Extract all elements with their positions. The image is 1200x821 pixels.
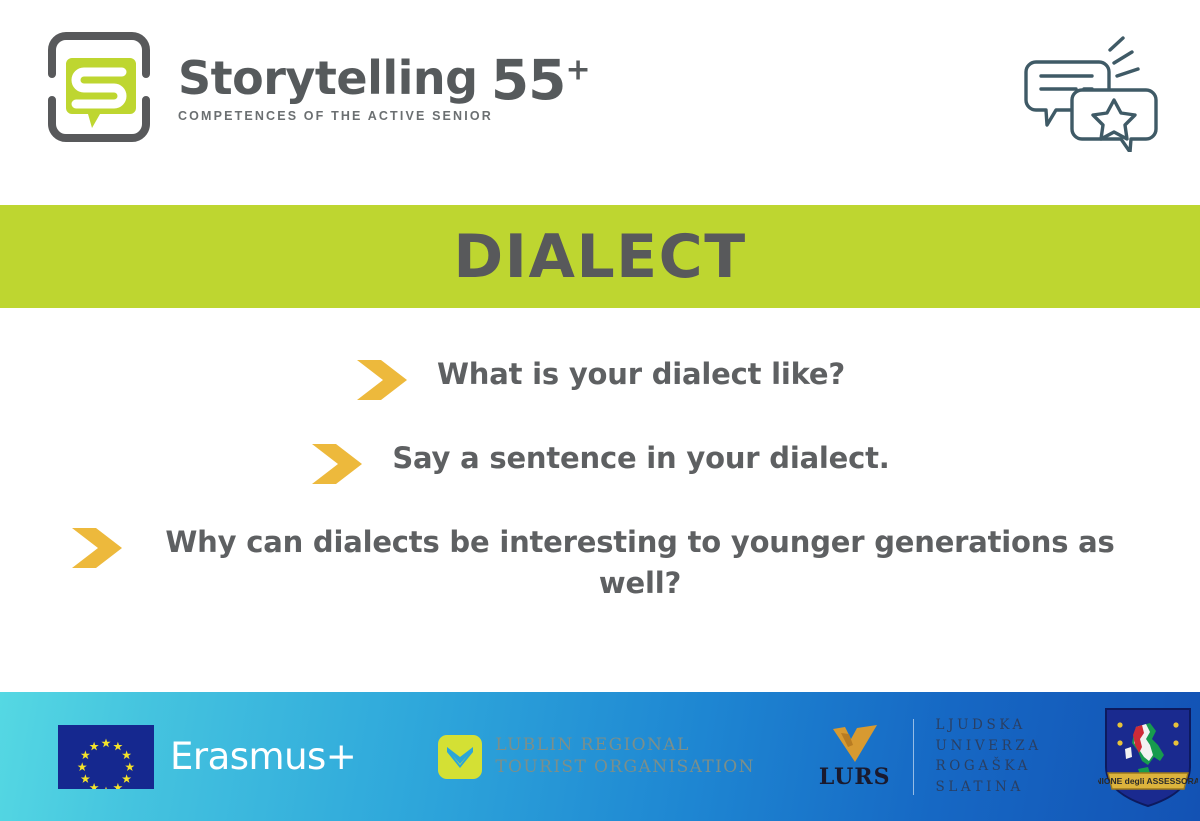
lublin-line-2: Tourist Organisation bbox=[495, 759, 755, 776]
storytelling-logo-icon bbox=[38, 28, 160, 146]
question-row: Say a sentence in your dialect. bbox=[0, 438, 1200, 486]
wordmark-age-plus: + bbox=[565, 53, 589, 88]
erasmus-logo: Erasmus+ bbox=[58, 725, 356, 789]
lublin-wordmark: Lublin Regional Tourist Organisation bbox=[495, 737, 755, 776]
question-row: Why can dialects be interesting to young… bbox=[0, 522, 1200, 604]
questions-area: What is your dialect like? Say a sentenc… bbox=[0, 308, 1200, 692]
wordmark-age-number: 55 bbox=[491, 48, 566, 112]
brand-lockup: Storytelling COMPETENCES OF THE ACTIVE S… bbox=[38, 28, 590, 146]
question-text: Why can dialects be interesting to young… bbox=[150, 522, 1130, 604]
chevron-right-icon bbox=[70, 526, 126, 570]
question-text: Say a sentence in your dialect. bbox=[392, 438, 889, 479]
lurs-logo: LURS LJUDSKA UNIVERZA ROGAŠKA SLATINA bbox=[819, 719, 1042, 795]
lublin-logo: Lublin Regional Tourist Organisation bbox=[438, 735, 755, 779]
unione-assessorati-shield-icon: UNIONE degli ASSESSORATI bbox=[1098, 705, 1198, 809]
erasmus-label: Erasmus+ bbox=[170, 738, 356, 775]
chevron-right-icon bbox=[355, 358, 411, 402]
chevron-right-icon bbox=[310, 442, 366, 486]
lurs-name-line-1: LJUDSKA bbox=[936, 719, 1042, 733]
lurs-mark-block: LURS bbox=[819, 725, 913, 788]
lurs-divider bbox=[913, 719, 914, 795]
european-union-flag-icon bbox=[58, 725, 154, 789]
footer-logos: Erasmus+ Lublin Regional Tourist Organis… bbox=[0, 705, 1200, 809]
lurs-name-line-3: ROGAŠKA bbox=[936, 760, 1042, 774]
title-band: DIALECT bbox=[0, 205, 1200, 308]
lurs-name-line-2: UNIVERZA bbox=[936, 740, 1042, 754]
lurs-university-name: LJUDSKA UNIVERZA ROGAŠKA SLATINA bbox=[936, 719, 1042, 794]
lurs-acronym: LURS bbox=[819, 766, 891, 788]
speech-bubbles-with-star-icon bbox=[1014, 32, 1166, 152]
question-text: What is your dialect like? bbox=[437, 354, 845, 395]
lurs-v-mark-icon bbox=[829, 725, 881, 763]
lublin-checkmark-icon bbox=[438, 735, 482, 779]
question-row: What is your dialect like? bbox=[0, 354, 1200, 402]
wordmark-left: Storytelling COMPETENCES OF THE ACTIVE S… bbox=[178, 55, 493, 123]
slide-root: Storytelling COMPETENCES OF THE ACTIVE S… bbox=[0, 0, 1200, 821]
header: Storytelling COMPETENCES OF THE ACTIVE S… bbox=[0, 0, 1200, 205]
footer: Erasmus+ Lublin Regional Tourist Organis… bbox=[0, 692, 1200, 821]
wordmark: Storytelling COMPETENCES OF THE ACTIVE S… bbox=[178, 51, 590, 123]
wordmark-age: 55+ bbox=[491, 53, 590, 108]
lublin-line-1: Lublin Regional bbox=[495, 737, 755, 754]
wordmark-title: Storytelling bbox=[178, 55, 478, 101]
page-title: DIALECT bbox=[453, 227, 746, 287]
lurs-name-line-4: SLATINA bbox=[936, 781, 1042, 795]
unione-banner-text: UNIONE degli ASSESSORATI bbox=[1098, 776, 1198, 786]
wordmark-tagline: COMPETENCES OF THE ACTIVE SENIOR bbox=[178, 110, 493, 123]
